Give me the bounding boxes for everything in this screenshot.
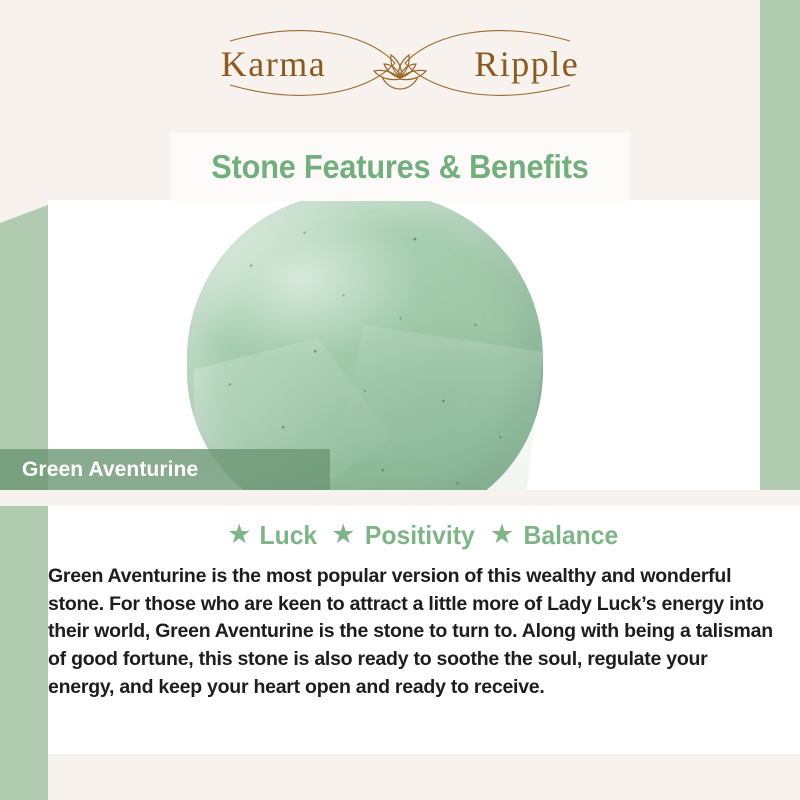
brand-name-left: Karma — [221, 46, 326, 82]
page-title: Stone Features & Benefits — [186, 133, 614, 201]
brand-logo: Karma Ripple — [0, 0, 800, 128]
photo-base-strip — [0, 490, 800, 506]
stone-image — [187, 200, 543, 490]
stone-photo — [48, 200, 760, 490]
attribute-item: ★ Balance — [490, 520, 621, 551]
star-icon: ★ — [227, 521, 251, 548]
attribute-label: Balance — [524, 520, 619, 551]
footer-strip — [48, 754, 800, 800]
stone-name-label: Green Aventurine — [0, 458, 198, 482]
stone-description: Green Aventurine is the most popular ver… — [48, 563, 800, 701]
attribute-label: Luck — [260, 520, 318, 551]
stone-name-bar: Green Aventurine — [0, 449, 330, 490]
attribute-label: Positivity — [365, 520, 475, 551]
description-section: ★ Luck ★ Positivity ★ Balance Green Aven… — [48, 506, 800, 754]
attribute-item: ★ Positivity — [331, 520, 478, 551]
brand-name-right: Ripple — [474, 46, 579, 82]
attributes-row: ★ Luck ★ Positivity ★ Balance — [48, 520, 800, 551]
star-icon: ★ — [331, 521, 355, 548]
star-icon: ★ — [490, 521, 514, 548]
stone-info-card: Karma Ripple Stone Features & Benefits G… — [0, 0, 800, 800]
attribute-item: ★ Luck — [227, 520, 319, 551]
stone-speckles — [187, 200, 543, 490]
